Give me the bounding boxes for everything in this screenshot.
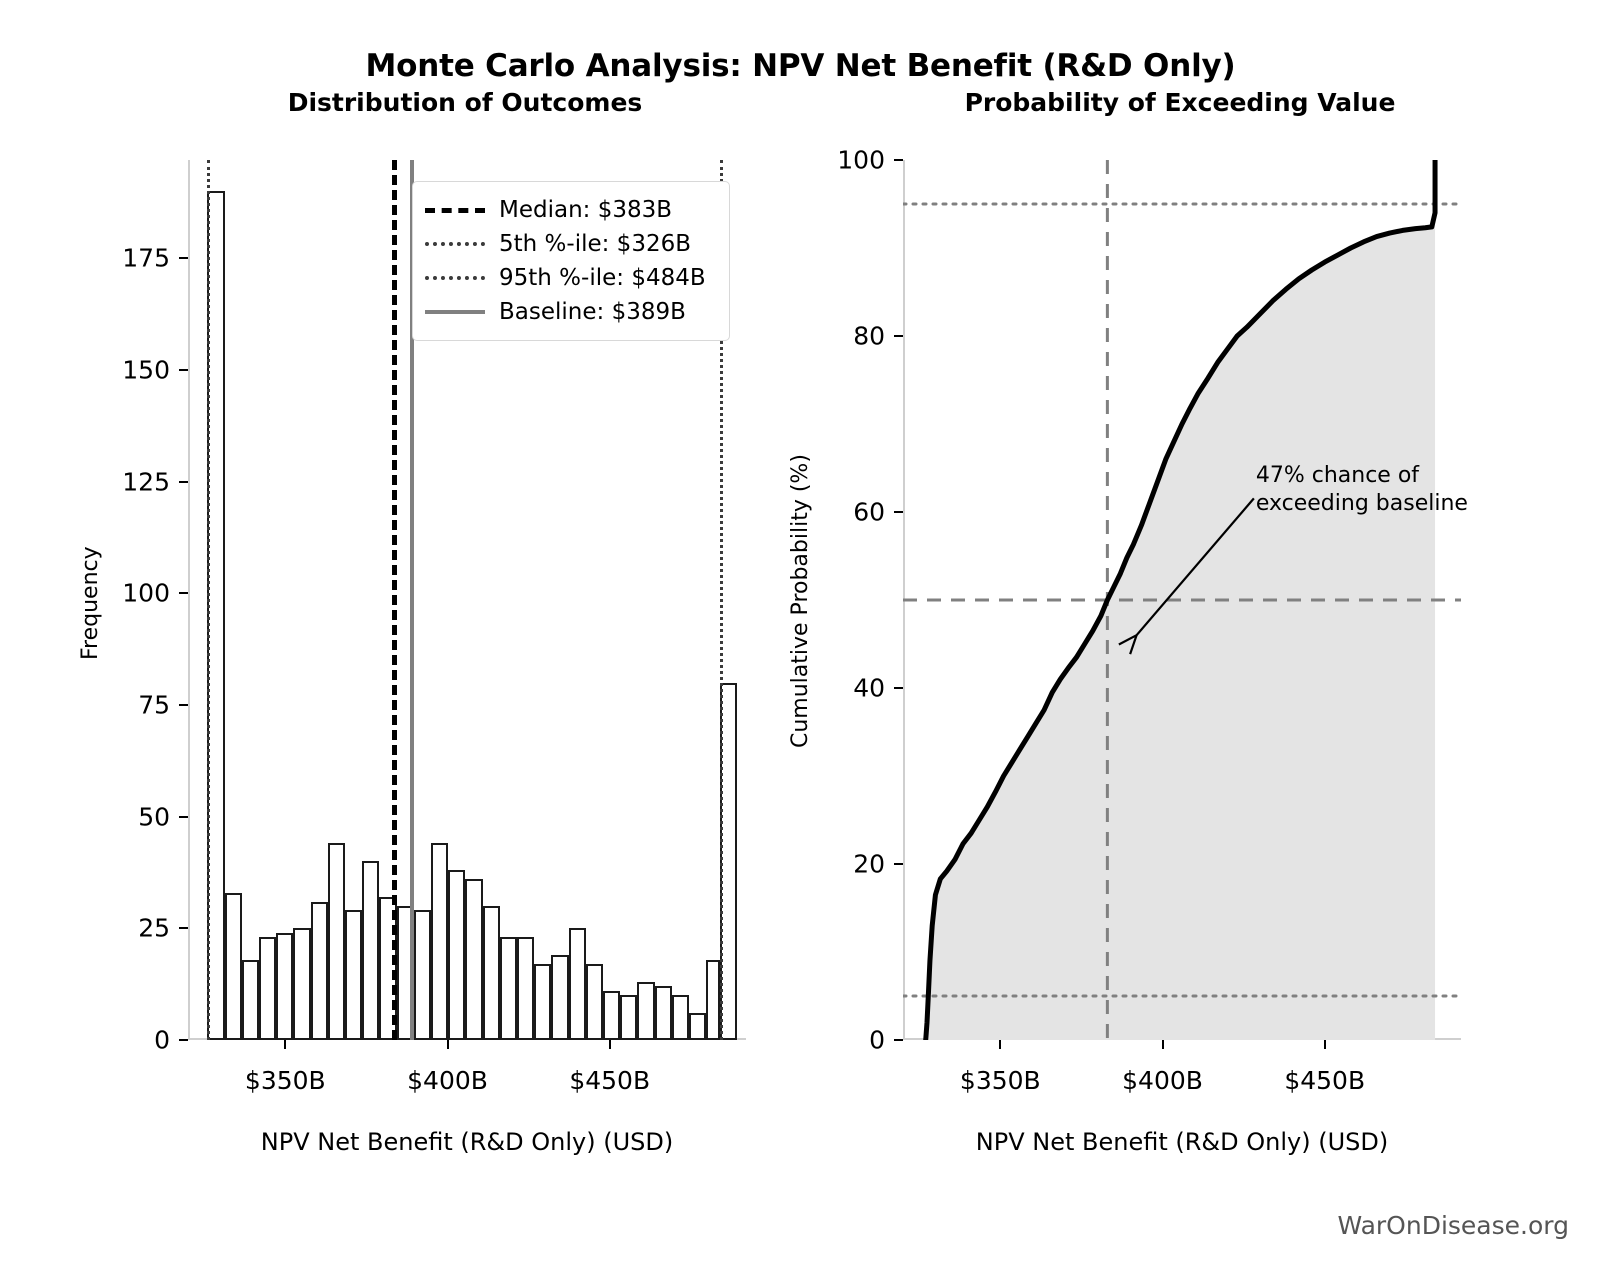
- histogram-bar: [551, 955, 568, 1040]
- cdf-ytick: 60: [853, 498, 885, 527]
- right-panel-title: Probability of Exceeding Value: [900, 88, 1460, 117]
- figure-suptitle: Monte Carlo Analysis: NPV Net Benefit (R…: [0, 48, 1601, 84]
- histogram-ytick: 75: [138, 690, 170, 719]
- cdf-xlabel: NPV Net Benefit (R&D Only) (USD): [903, 1128, 1461, 1156]
- histogram-bar: [637, 982, 654, 1040]
- histogram-ytick: 150: [122, 355, 170, 384]
- histogram-bar: [534, 964, 551, 1040]
- legend-item-label: 95th %-ile: $484B: [499, 265, 706, 291]
- legend-item: 95th %-ile: $484B: [425, 261, 717, 295]
- histogram-bar: [689, 1013, 706, 1040]
- histogram-ytick: 50: [138, 802, 170, 831]
- histogram-bar: [465, 879, 482, 1040]
- histogram-bar: [672, 995, 689, 1040]
- histogram-bar: [328, 843, 345, 1040]
- histogram-ytick: 100: [122, 579, 170, 608]
- histogram-bar: [706, 960, 720, 1040]
- cdf-xtick: $400B: [1122, 1066, 1203, 1095]
- legend-item: Baseline: $389B: [425, 295, 717, 329]
- cdf-xtick: $450B: [1284, 1066, 1365, 1095]
- histogram-bar: [414, 910, 431, 1040]
- histogram-ytick-mark: [179, 927, 188, 929]
- cdf-curve-svg: [903, 160, 1461, 1040]
- cdf-ytick: 20: [853, 850, 885, 879]
- histogram-xtick: $400B: [407, 1066, 488, 1095]
- cdf-xtick-mark: [1324, 1040, 1326, 1049]
- histogram-xtick-mark: [447, 1040, 449, 1049]
- cdf-ytick-mark: [894, 863, 903, 865]
- legend-swatch-solid: [425, 310, 485, 314]
- legend-item-label: Baseline: $389B: [499, 299, 686, 325]
- histogram-bar: [276, 933, 293, 1040]
- legend-swatch-dotted: [425, 242, 485, 246]
- cdf-ytick-mark: [894, 335, 903, 337]
- cdf-xtick: $350B: [960, 1066, 1041, 1095]
- cdf-annotation-line2: exceeding baseline: [1256, 490, 1468, 518]
- histogram-bar: [620, 995, 637, 1040]
- left-panel-title: Distribution of Outcomes: [185, 88, 745, 117]
- cdf-ytick-mark: [894, 511, 903, 513]
- cdf-ytick-mark: [894, 159, 903, 161]
- histogram-xtick: $450B: [569, 1066, 650, 1095]
- legend-item: 5th %-ile: $326B: [425, 227, 717, 261]
- histogram-ylabel: Frequency: [78, 546, 103, 660]
- histogram-bar: [586, 964, 603, 1040]
- cdf-ytick: 40: [853, 674, 885, 703]
- histogram-ytick-mark: [179, 592, 188, 594]
- histogram-bar: [603, 991, 620, 1040]
- histogram-bar: [259, 937, 276, 1040]
- cdf-ytick: 0: [869, 1026, 885, 1055]
- histogram-bar: [500, 937, 517, 1040]
- footer-watermark: WarOnDisease.org: [1337, 1211, 1569, 1240]
- histogram-ytick-mark: [179, 369, 188, 371]
- histogram-xlabel: NPV Net Benefit (R&D Only) (USD): [188, 1128, 746, 1156]
- histogram-marker-median: [392, 160, 397, 1040]
- legend-item-label: Median: $383B: [499, 197, 672, 223]
- histogram-ytick-mark: [179, 816, 188, 818]
- histogram-marker-5th-ile: [207, 160, 210, 1040]
- histogram-ytick: 125: [122, 467, 170, 496]
- histogram-xtick-mark: [284, 1040, 286, 1049]
- histogram-bar: [311, 902, 328, 1040]
- cdf-xtick-mark: [1162, 1040, 1164, 1049]
- histogram-bar: [483, 906, 500, 1040]
- histogram-bar: [242, 960, 259, 1040]
- legend-swatch-dotted: [425, 276, 485, 280]
- histogram-bar: [293, 928, 310, 1040]
- cdf-ytick: 80: [853, 322, 885, 351]
- cdf-plot-area: [903, 160, 1461, 1040]
- legend-item-label: 5th %-ile: $326B: [499, 231, 691, 257]
- histogram-ytick-mark: [179, 481, 188, 483]
- legend-item: Median: $383B: [425, 193, 717, 227]
- histogram-ytick: 25: [138, 914, 170, 943]
- cdf-ytick-mark: [894, 687, 903, 689]
- cdf-ytick: 100: [837, 146, 885, 175]
- histogram-bar: [362, 861, 379, 1040]
- histogram-legend: Median: $383B5th %-ile: $326B95th %-ile:…: [412, 181, 730, 341]
- cdf-annotation: 47% chance of exceeding baseline: [1256, 462, 1468, 517]
- histogram-bar: [569, 928, 586, 1040]
- histogram-bar: [345, 910, 362, 1040]
- cdf-ylabel: Cumulative Probability (%): [788, 454, 813, 748]
- cdf-ytick-mark: [894, 1039, 903, 1041]
- cdf-axes: [903, 160, 1461, 1040]
- histogram-ytick-mark: [179, 1039, 188, 1041]
- histogram-ytick: 175: [122, 244, 170, 273]
- histogram-bar: [517, 937, 534, 1040]
- histogram-xtick: $350B: [245, 1066, 326, 1095]
- cdf-xtick-mark: [999, 1040, 1001, 1049]
- histogram-xtick-mark: [609, 1040, 611, 1049]
- histogram-ytick-mark: [179, 257, 188, 259]
- histogram-bar: [225, 893, 242, 1040]
- histogram-bar: [431, 843, 448, 1040]
- histogram-bar: [448, 870, 465, 1040]
- histogram-bar: [655, 986, 672, 1040]
- histogram-ytick-mark: [179, 704, 188, 706]
- histogram-ytick: 0: [154, 1026, 170, 1055]
- cdf-annotation-line1: 47% chance of: [1256, 462, 1468, 490]
- legend-swatch-dashed: [425, 208, 485, 213]
